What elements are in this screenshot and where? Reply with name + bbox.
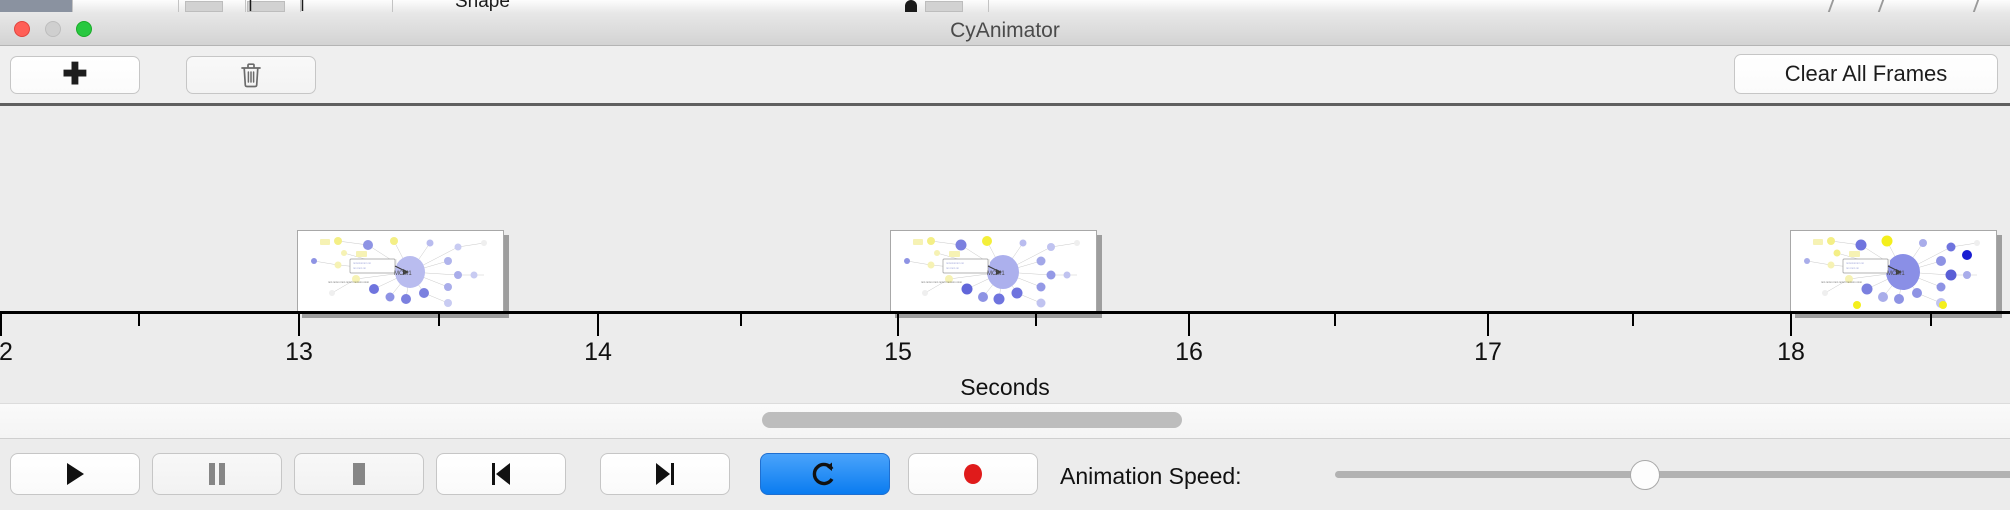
toolbar: ✚ Clear All Frames <box>0 46 2010 104</box>
background-window-active-tab <box>0 0 72 12</box>
background-chip <box>925 1 963 12</box>
add-frame-button[interactable]: ✚ <box>10 56 140 94</box>
cyanimator-window: | | Shape CyAnimator ✚ Clear All Frames <box>0 0 2010 510</box>
background-chip <box>185 1 223 12</box>
svg-text:nn nnnn nn: nn nnnn nn <box>946 267 960 270</box>
window-title: CyAnimator <box>0 19 2010 43</box>
thumbnail-image: nnnnnnnnnn nn nn nnnn nn MCM1 nnn nnnn n… <box>890 230 1097 313</box>
keyframe-thumbnail[interactable]: nnnnnnnnnn nn nn nnnn nn MCM1 nnn nnnn n… <box>890 230 1102 318</box>
svg-text:nnn nnnn nnnn nnnn nnnnnnn nnn: nnn nnnn nnnn nnnn nnnnnnn nnnn <box>921 281 963 284</box>
svg-text:MCM1: MCM1 <box>1887 271 1905 277</box>
axis-tick-major <box>1188 314 1190 336</box>
next-frame-button[interactable] <box>600 453 730 495</box>
axis-tick-label: 13 <box>285 338 313 367</box>
plus-icon: ✚ <box>62 60 87 90</box>
background-window-label: Shape <box>455 0 510 12</box>
axis-tick-minor <box>438 314 440 326</box>
axis-tick-label: 17 <box>1474 338 1502 367</box>
keyframe-thumbnail[interactable]: nnnnnnnnnn nn nn nnnn nn MCM1 nnn nnnn n… <box>297 230 509 318</box>
previous-frame-button[interactable] <box>436 453 566 495</box>
network-graphic: nnnnnnnnnn nn nn nnnn nn MCM1 nnn nnnn n… <box>298 231 504 313</box>
scrollbar-thumb[interactable] <box>762 412 1182 428</box>
svg-text:nn nnnn nn: nn nnnn nn <box>353 267 367 270</box>
background-glyph-i: | <box>300 0 305 12</box>
stop-button[interactable] <box>294 453 424 495</box>
delete-frame-button[interactable] <box>186 56 316 94</box>
axis-tick-major <box>1487 314 1489 336</box>
animation-speed-slider-thumb[interactable] <box>1630 460 1660 490</box>
network-graphic: nnnnnnnnnn nn nn nnnn nn MCM1 nnn nnnn n… <box>1791 231 1997 313</box>
record-icon <box>961 461 985 487</box>
pause-icon <box>206 461 228 487</box>
background-marker <box>905 0 917 12</box>
axis-tick-minor <box>1334 314 1336 326</box>
background-divider <box>245 0 246 12</box>
record-button[interactable] <box>908 453 1038 495</box>
background-divider <box>178 0 179 12</box>
background-slash <box>1878 0 1884 12</box>
axis-tick-major <box>298 314 300 336</box>
axis-tick-minor <box>1632 314 1634 326</box>
axis-tick-minor <box>138 314 140 326</box>
loop-icon <box>812 460 838 488</box>
background-divider <box>988 0 989 12</box>
background-slash <box>1973 0 1979 12</box>
axis-tick-major <box>897 314 899 336</box>
animation-speed-slider[interactable] <box>1335 471 2010 478</box>
svg-text:MCM1: MCM1 <box>394 271 412 277</box>
svg-text:nnn nnnn nnnn nnnn nnnnnnn nnn: nnn nnnn nnnn nnnn nnnnnnn nnnn <box>1821 281 1863 284</box>
thumbnail-image: nnnnnnnnnn nn nn nnnn nn MCM1 nnn nnnn n… <box>1790 230 1997 313</box>
background-slash <box>1828 0 1834 12</box>
background-glyph-j: | <box>248 0 253 12</box>
axis-tick-label: 18 <box>1777 338 1805 367</box>
title-bar: CyAnimator <box>0 12 2010 46</box>
axis-tick-minor <box>1035 314 1037 326</box>
svg-text:nn nnnn nn: nn nnnn nn <box>1846 267 1860 270</box>
timeline-scrollbar[interactable] <box>0 403 2010 438</box>
trash-icon <box>240 62 262 88</box>
background-divider <box>392 0 393 12</box>
network-graphic: nnnnnnnnnn nn nn nnnn nn MCM1 nnn nnnn n… <box>891 231 1097 313</box>
svg-text:nnn nnnn nnnn nnnn nnnnnnn nnn: nnn nnnn nnnn nnnn nnnnnnn nnnn <box>328 281 370 284</box>
animation-speed-label: Animation Speed: <box>1060 463 1242 490</box>
svg-text:nnnnnnnnnn nn: nnnnnnnnnn nn <box>946 262 965 265</box>
axis-tick-label: 15 <box>884 338 912 367</box>
axis-tick-label: 14 <box>584 338 612 367</box>
axis-tick-minor <box>740 314 742 326</box>
keyframe-thumbnail[interactable]: nnnnnnnnnn nn nn nnnn nn MCM1 nnn nnnn n… <box>1790 230 2002 318</box>
clear-all-frames-button[interactable]: Clear All Frames <box>1734 54 1998 94</box>
play-icon <box>63 461 87 487</box>
axis-tick-label: 2 <box>0 338 13 367</box>
axis-tick-minor <box>1930 314 1932 326</box>
svg-text:MCM1: MCM1 <box>987 271 1005 277</box>
svg-text:nnnnnnnnnn nn: nnnnnnnnnn nn <box>1846 262 1865 265</box>
skip-previous-icon <box>489 461 513 487</box>
play-button[interactable] <box>10 453 140 495</box>
axis-title: Seconds <box>0 374 2010 401</box>
axis-tick-label: 16 <box>1175 338 1203 367</box>
axis-tick-major <box>597 314 599 336</box>
svg-text:nnnnnnnnnn nn: nnnnnnnnnn nn <box>353 262 372 265</box>
timeline-axis <box>0 311 2010 314</box>
background-window-sliver: | | Shape <box>0 0 2010 12</box>
playback-bar: Animation Speed: <box>0 438 2010 510</box>
clear-all-frames-label: Clear All Frames <box>1785 61 1948 87</box>
axis-tick-major <box>0 314 2 336</box>
axis-tick-major <box>1790 314 1792 336</box>
stop-icon <box>348 461 370 487</box>
background-divider <box>72 0 73 12</box>
loop-button[interactable] <box>760 453 890 495</box>
timeline-panel[interactable]: nnnnnnnnnn nn nn nnnn nn MCM1 nnn nnnn n… <box>0 106 2010 403</box>
thumbnail-image: nnnnnnnnnn nn nn nnnn nn MCM1 nnn nnnn n… <box>297 230 504 313</box>
pause-button[interactable] <box>152 453 282 495</box>
skip-next-icon <box>653 461 677 487</box>
